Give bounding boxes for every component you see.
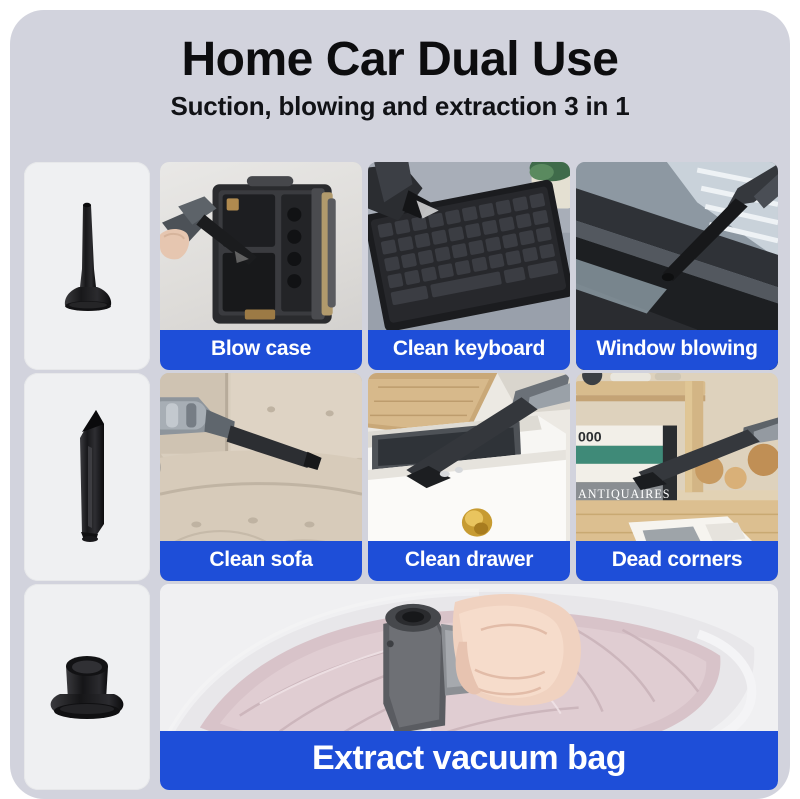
tool-tile-flat-crevice-tool[interactable]	[24, 373, 150, 581]
caption-blow-case: Blow case	[160, 330, 362, 370]
feature-row-1: Blow case	[24, 162, 778, 370]
panel-clean-drawer[interactable]: Clean drawer	[368, 373, 570, 581]
panel-window-blowing[interactable]: Window blowing	[576, 162, 778, 370]
caption-clean-keyboard: Clean keyboard	[368, 330, 570, 370]
page-title: Home Car Dual Use	[182, 35, 619, 85]
book-title: ANTIQUAIRES	[578, 487, 671, 501]
feature-panels-row-3: Extract vacuum bag	[160, 584, 778, 790]
tool-tile-vacuum-bag-adapter[interactable]	[24, 584, 150, 790]
feature-row-3: Extract vacuum bag	[24, 584, 778, 790]
feature-panels-row-1: Blow case	[160, 162, 778, 370]
page-subtitle: Suction, blowing and extraction 3 in 1	[170, 91, 629, 122]
blow-nozzle-cone-icon	[52, 191, 122, 341]
tool-tile-blow-nozzle-cone[interactable]	[24, 162, 150, 370]
panel-extract-vacuum-bag[interactable]: Extract vacuum bag	[160, 584, 778, 790]
feature-grid: Blow case	[24, 162, 778, 790]
panel-blow-case[interactable]: Blow case	[160, 162, 362, 370]
caption-window-blowing: Window blowing	[576, 330, 778, 370]
panel-clean-keyboard[interactable]: Clean keyboard	[368, 162, 570, 370]
flat-crevice-tool-icon	[52, 402, 122, 552]
caption-clean-sofa: Clean sofa	[160, 541, 362, 581]
panel-clean-sofa[interactable]: Clean sofa	[160, 373, 362, 581]
book-number: 000	[578, 429, 602, 445]
caption-clean-drawer: Clean drawer	[368, 541, 570, 581]
product-infographic: Home Car Dual Use Suction, blowing and e…	[10, 10, 790, 799]
caption-dead-corners: Dead corners	[576, 541, 778, 581]
feature-panels-row-2: Clean sofa	[160, 373, 778, 581]
vacuum-bag-adapter-icon	[32, 632, 142, 742]
feature-row-2: Clean sofa	[24, 373, 778, 581]
panel-dead-corners[interactable]: 000 ANTIQUAIRES	[576, 373, 778, 581]
header: Home Car Dual Use Suction, blowing and e…	[10, 10, 790, 155]
caption-extract-vacuum-bag: Extract vacuum bag	[160, 731, 778, 790]
